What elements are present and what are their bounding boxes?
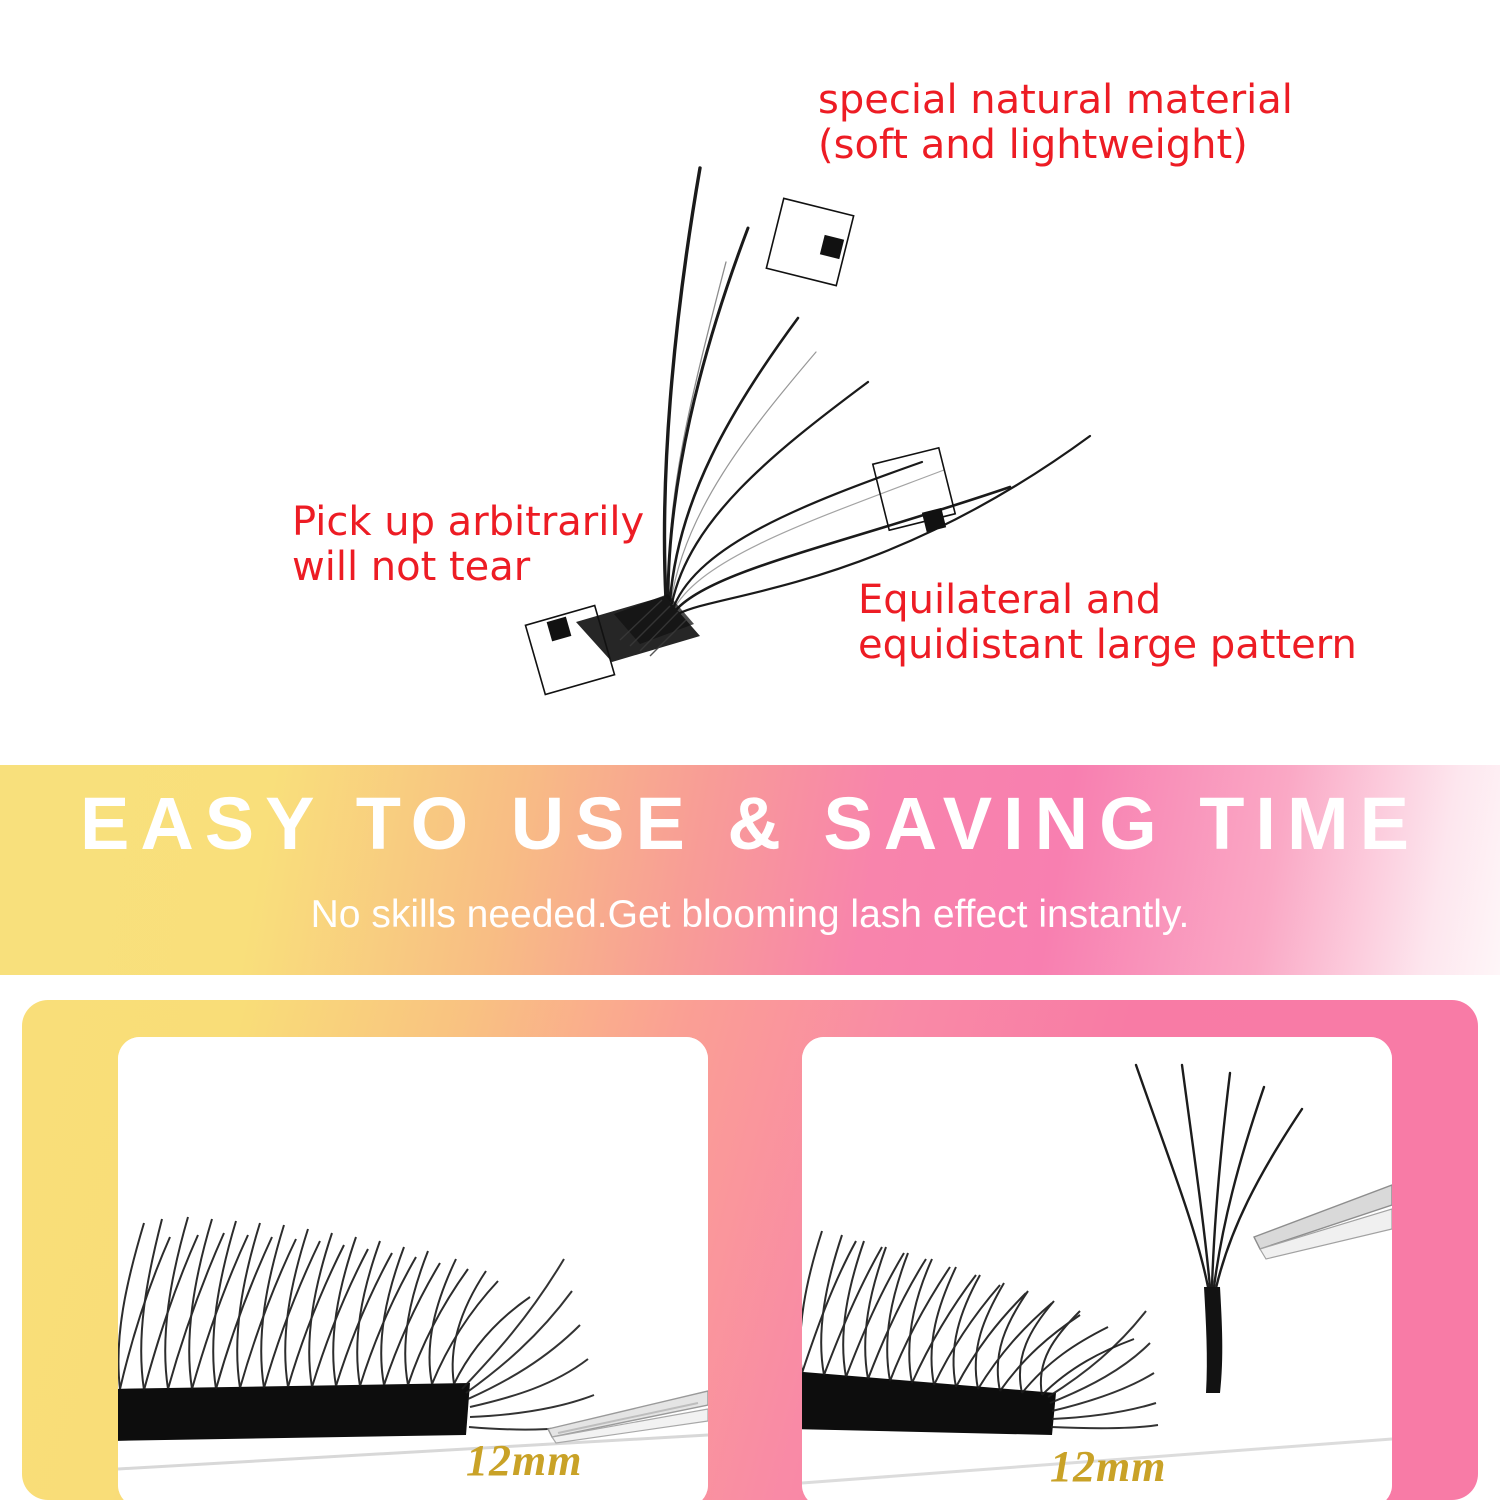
banner-title: EASY TO USE & SAVING TIME: [0, 787, 1500, 861]
size-label-left: 12mm: [466, 1435, 582, 1486]
photo-panel: 12mm: [22, 1000, 1478, 1500]
callout-equilateral-pattern: Equilateral and equidistant large patter…: [858, 578, 1357, 668]
callout-marker-2: [873, 448, 955, 532]
callout-special-natural-material: special natural material (soft and light…: [818, 78, 1293, 168]
lash-tray-photo: [118, 1037, 708, 1500]
callout-marker-1: [766, 198, 853, 285]
feature-banner: EASY TO USE & SAVING TIME No skills need…: [0, 765, 1500, 975]
photo-card-lash-tray: 12mm: [118, 1037, 708, 1500]
photo-card-lash-fan-pickup: 12mm: [802, 1037, 1392, 1500]
product-infographic: special natural material (soft and light…: [0, 0, 1500, 1500]
lash-fan-pickup-photo: [802, 1037, 1392, 1500]
hero-section: special natural material (soft and light…: [0, 0, 1500, 765]
callout-pick-up-arbitrarily: Pick up arbitrarily will not tear: [292, 500, 644, 590]
banner-subtitle: No skills needed.Get blooming lash effec…: [0, 893, 1500, 937]
size-label-right: 12mm: [1050, 1441, 1166, 1492]
